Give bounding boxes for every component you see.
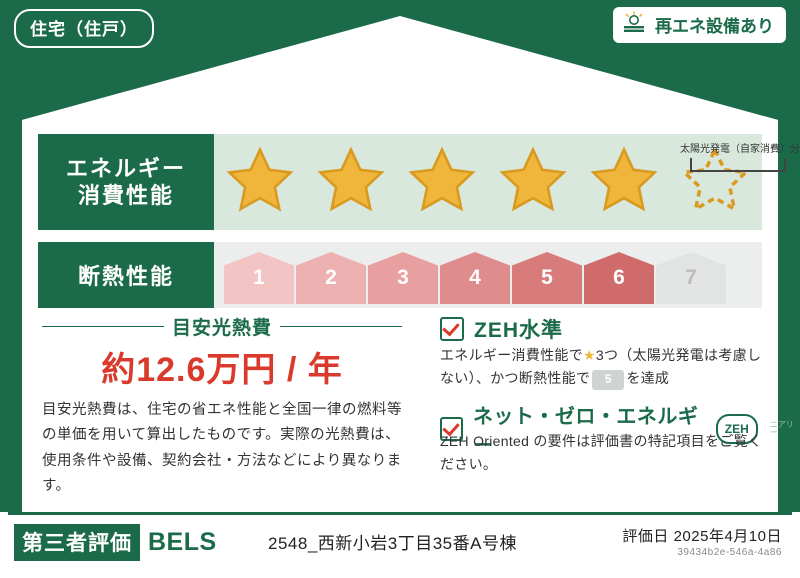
energy-performance-label: 住宅（住戸） 再エネ設備あり 建築物省エネ法に基づく 省エネ性能ラベル エネルギ… [0, 0, 800, 578]
label-title: 省エネ性能ラベル [0, 68, 800, 112]
star-filled-3 [396, 145, 487, 220]
bels-label: BELS [148, 528, 217, 557]
net-zero-description: ZEH Oriented の要件は評価書の特記項目をご覧ください。 [440, 430, 770, 476]
grade-6-label: 6 [613, 266, 625, 290]
evaluation-date: 評価日 2025年4月10日 [622, 525, 782, 546]
grade-2-label: 2 [325, 266, 337, 290]
label-subtitle: 建築物省エネ法に基づく [0, 44, 800, 65]
insulation-grade-scale: 1 2 3 4 5 6 7 [224, 246, 754, 304]
third-party-evaluation-label: 第三者評価 [14, 524, 140, 561]
zeh-desc-part1: エネルギー消費性能で [440, 347, 583, 363]
grade-7-label: 7 [685, 266, 697, 290]
star-filled-5 [578, 145, 669, 220]
energy-performance-row: エネルギー 消費性能 太陽光発電（自家消費）分 [38, 134, 762, 230]
star-solar-outline-6 [669, 145, 760, 220]
insulation-grade-6: 6 [584, 252, 654, 304]
grade-5-label: 5 [541, 266, 553, 290]
star-filled-1 [214, 145, 305, 220]
insulation-grade-4: 4 [440, 252, 510, 304]
energy-caption-line1: エネルギー [66, 155, 186, 183]
insulation-grade-1: 1 [224, 252, 294, 304]
zeh-standard-title: ZEH水準 [474, 314, 563, 344]
property-address: 2548_西新小岩3丁目35番A号棟 [268, 529, 517, 554]
grade-4-label: 4 [469, 266, 481, 290]
zeh-desc-part2: 3つ（太陽光発電 [596, 347, 704, 363]
zeh-check-icon [440, 317, 464, 341]
insulation-grade-7: 7 [656, 252, 726, 304]
energy-performance-caption: エネルギー 消費性能 [38, 134, 214, 230]
zeh-desc-grade-badge: 5 [592, 370, 624, 390]
utility-cost-value: 約12.6万円 / 年 [42, 342, 402, 391]
evaluation-id: 39434b2e-546a-4a86 [677, 547, 782, 558]
cost-rule-right [280, 326, 402, 327]
insulation-grade-2: 2 [296, 252, 366, 304]
star-filled-2 [305, 145, 396, 220]
footer-divider [8, 512, 792, 515]
frame-left-bar [8, 118, 22, 512]
insulation-performance-row: 断熱性能 1 2 3 4 5 6 7 [38, 242, 762, 308]
house-type-badge: 住宅（住戸） [14, 9, 154, 48]
star-filled-4 [487, 145, 578, 220]
zeh-standard-row: ZEH水準 [440, 314, 563, 344]
solar-self-consumption-note: 太陽光発電（自家消費）分 [660, 140, 800, 155]
insulation-grade-5: 5 [512, 252, 582, 304]
zeh-desc-star-icon: ★ [583, 347, 596, 363]
sun-icon [621, 11, 647, 38]
grade-1-label: 1 [253, 266, 265, 290]
utility-cost-description: 目安光熱費は、住宅の省エネ性能と全国一律の燃料等の単価を用いて算出したものです。… [42, 398, 412, 500]
renewable-equipment-label: 再エネ設備あり [655, 12, 774, 37]
zeh-desc-part4: を達成 [626, 370, 669, 386]
solar-bracket [690, 158, 786, 172]
zeh-standard-description: エネルギー消費性能で★3つ（太陽光発電は考慮しない）、かつ断熱性能で5を達成 [440, 344, 770, 390]
grade-3-label: 3 [397, 266, 409, 290]
zeh-logo-tail-text: ニアリー [770, 421, 800, 437]
insulation-grade-3: 3 [368, 252, 438, 304]
utility-cost-heading: 目安光熱費 [42, 314, 402, 338]
energy-caption-line2: 消費性能 [78, 182, 174, 210]
renewable-equipment-badge: 再エネ設備あり [613, 7, 786, 43]
bels-badge: 第三者評価 BELS [14, 524, 217, 561]
utility-cost-title: 目安光熱費 [172, 313, 272, 340]
insulation-caption: 断熱性能 [38, 242, 214, 308]
cost-rule-left [42, 326, 164, 327]
